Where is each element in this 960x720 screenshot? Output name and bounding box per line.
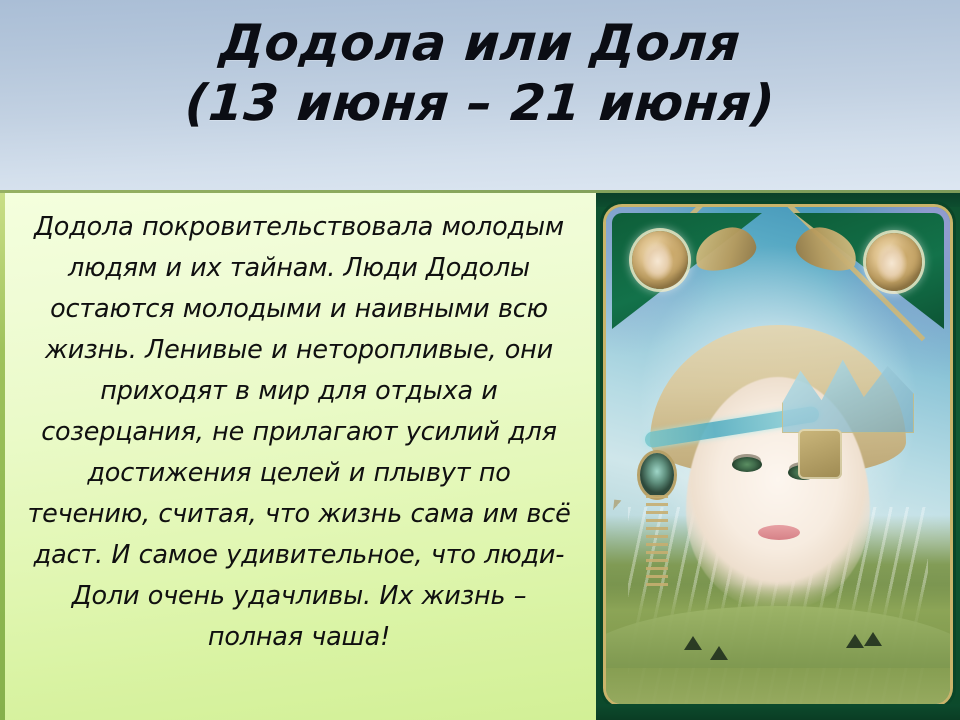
page-title: Додола или Доля (13 июня – 21 июня) <box>0 14 960 134</box>
hill <box>606 606 950 668</box>
medallion-face-right <box>866 233 922 291</box>
frame-bottom-band <box>596 704 960 720</box>
earring <box>640 453 674 497</box>
illustration-panel <box>596 193 960 720</box>
title-line-date-range: (13 июня – 21 июня) <box>0 72 960 134</box>
landscape <box>606 584 950 704</box>
medallion-face-left <box>632 231 688 289</box>
lips <box>758 525 800 540</box>
title-line-primary: Додола или Доля <box>0 14 960 72</box>
eye-left <box>732 457 762 472</box>
body-paragraph: Додола покровительствовала молодым людям… <box>26 207 572 658</box>
slide-root: Додола или Доля (13 июня – 21 июня) Додо… <box>0 0 960 720</box>
frame-top-band <box>596 193 960 207</box>
text-panel: Додола покровительствовала молодым людям… <box>0 193 596 720</box>
left-accent-stripe <box>0 193 5 720</box>
slide-header: Додола или Доля (13 июня – 21 июня) <box>0 0 960 193</box>
medallion-portrait-left <box>632 231 688 289</box>
slide-body: Додола покровительствовала молодым людям… <box>0 193 960 720</box>
medallion-portrait-right <box>866 233 922 291</box>
artwork-card <box>606 207 950 704</box>
